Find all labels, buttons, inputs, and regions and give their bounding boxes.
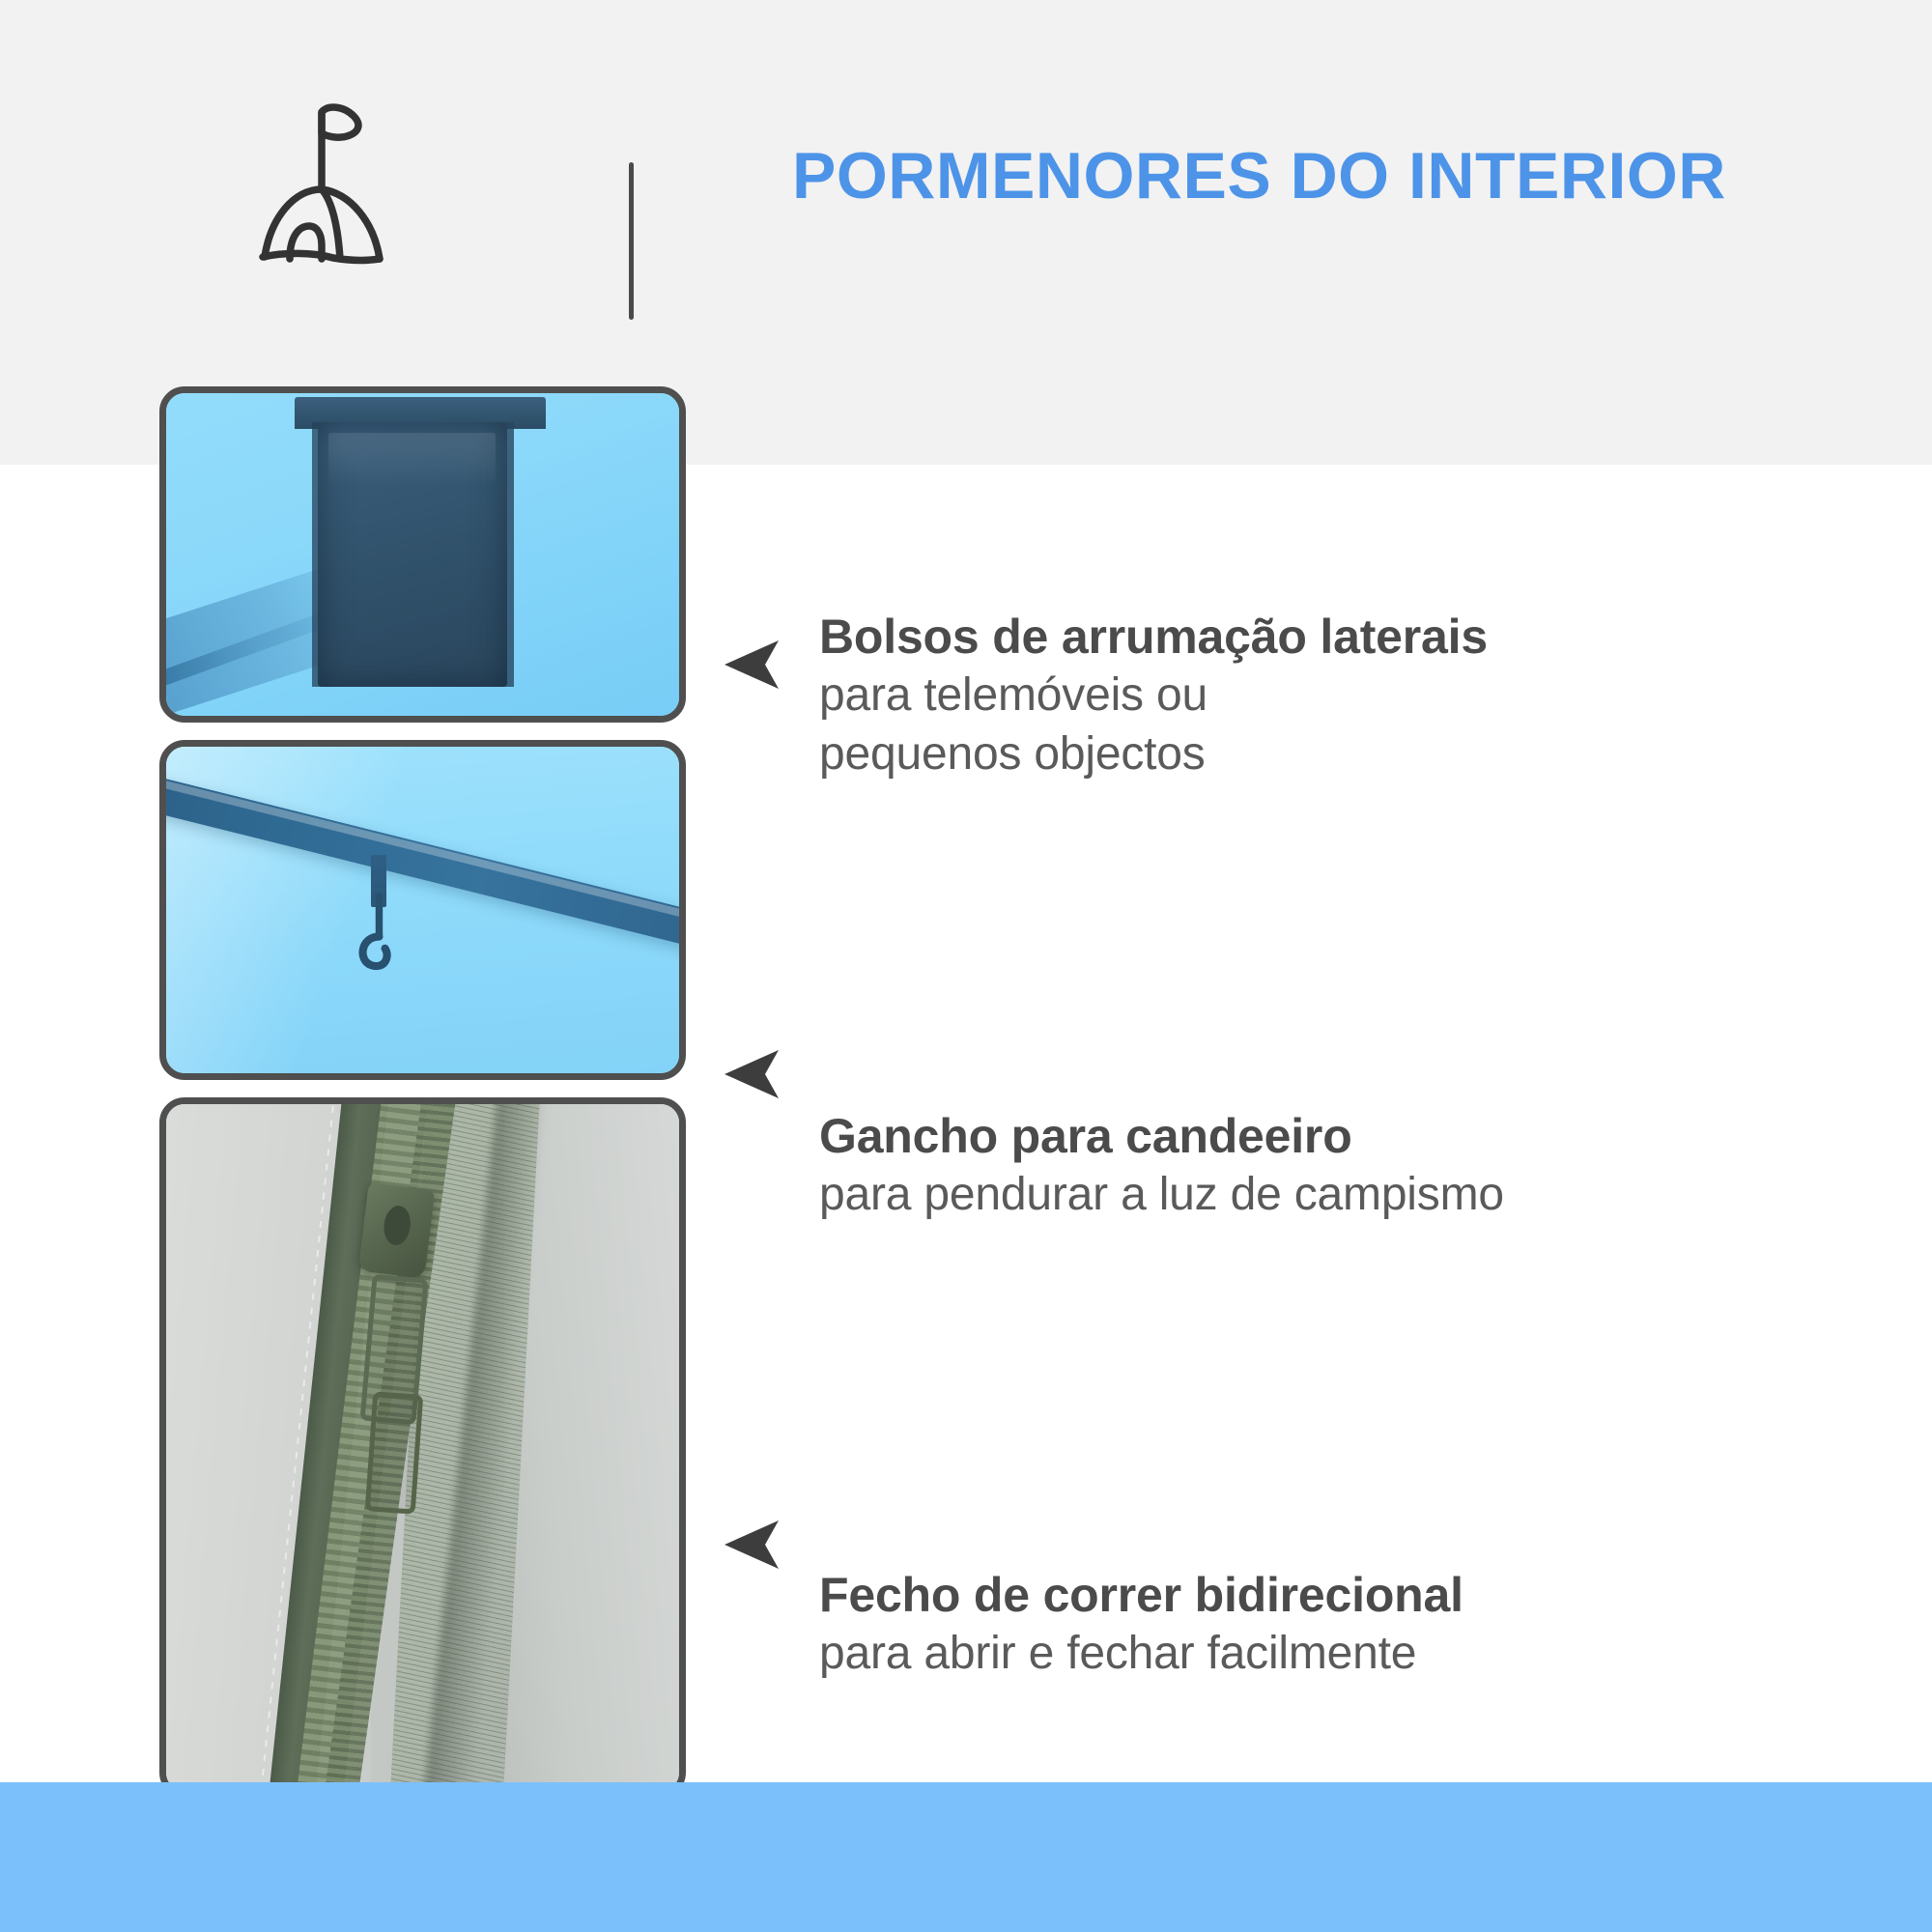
photo-content bbox=[166, 393, 679, 716]
feature-text-two-way-zipper: Fecho de correr bidirecional para abrir … bbox=[819, 1567, 1891, 1683]
left-arrow-icon bbox=[723, 1048, 782, 1100]
feature-text-storage-pockets: Bolsos de arrumação laterais para telemó… bbox=[819, 609, 1891, 783]
feature-subtitle: para pendurar a luz de campismo bbox=[819, 1165, 1891, 1224]
feature-photo-two-way-zipper bbox=[159, 1097, 686, 1798]
feature-title: Gancho para candeeiro bbox=[819, 1108, 1891, 1165]
feature-subtitle: para abrir e fechar facilmente bbox=[819, 1624, 1891, 1683]
feature-subtitle-line: para telemóveis ou bbox=[819, 666, 1891, 724]
page-title: PORMENORES DO INTERIOR bbox=[792, 143, 1874, 209]
header-divider bbox=[629, 162, 634, 320]
storage-pocket bbox=[318, 422, 507, 687]
feature-subtitle-line: pequenos objectos bbox=[819, 724, 1891, 783]
bottom-accent-bar bbox=[0, 1782, 1932, 1932]
feature-photo-lamp-hook bbox=[159, 740, 686, 1080]
feature-subtitle: para telemóveis ou pequenos objectos bbox=[819, 666, 1891, 784]
feature-title: Fecho de correr bidirecional bbox=[819, 1567, 1891, 1624]
feature-title: Bolsos de arrumação laterais bbox=[819, 609, 1891, 666]
feature-subtitle-line: para abrir e fechar facilmente bbox=[819, 1624, 1891, 1683]
left-arrow-icon bbox=[723, 1519, 782, 1571]
left-arrow-icon bbox=[723, 639, 782, 691]
lamp-hook bbox=[338, 894, 420, 991]
feature-photo-storage-pockets bbox=[159, 386, 686, 723]
camping-tent-icon bbox=[224, 75, 417, 269]
zipper-pull-lower bbox=[364, 1391, 423, 1514]
feature-text-lamp-hook: Gancho para candeeiro para pendurar a lu… bbox=[819, 1108, 1891, 1224]
photo-content bbox=[166, 747, 679, 1073]
zipper-slider bbox=[358, 1182, 436, 1279]
feature-subtitle-line: para pendurar a luz de campismo bbox=[819, 1165, 1891, 1224]
infographic-page: PORMENORES DO INTERIOR Bolsos de arrumaç… bbox=[0, 0, 1932, 1932]
photo-content bbox=[166, 1104, 679, 1791]
